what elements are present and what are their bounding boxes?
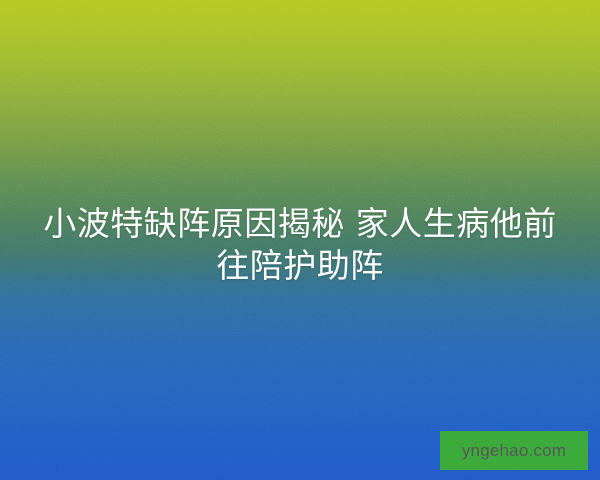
watermark-badge: yngehao.com — [440, 431, 588, 470]
watermark-label: yngehao.com — [462, 442, 566, 459]
poster-title: 小波特缺阵原因揭秘 家人生病他前往陪护助阵 — [0, 203, 600, 287]
poster-image: 小波特缺阵原因揭秘 家人生病他前往陪护助阵 yngehao.com — [0, 0, 600, 480]
